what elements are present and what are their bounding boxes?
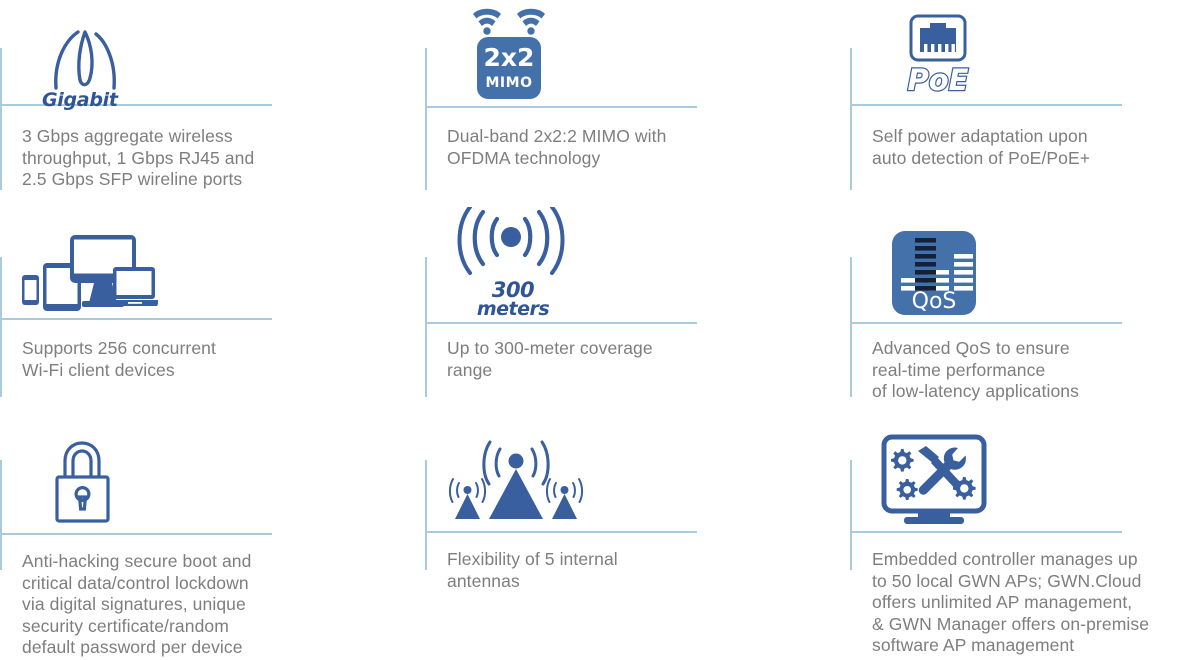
icon-zone bbox=[850, 415, 1200, 527]
icon-zone bbox=[0, 415, 400, 527]
feature-cell-dual-band-mimo: 2x2 MIMO Dual-band 2x2:2 MIMO with OFDMA… bbox=[425, 0, 825, 102]
gigabit-logo-icon: Gigabit bbox=[26, 20, 144, 100]
icon-zone: PoE bbox=[850, 0, 1200, 100]
antenna-towers-icon bbox=[443, 431, 591, 527]
divider-horizontal bbox=[0, 318, 272, 320]
feature-cell-secure-boot: Anti-hacking secure boot and critical da… bbox=[0, 415, 400, 527]
feature-description: Up to 300-meter coverage range bbox=[447, 338, 817, 381]
svg-text:2x2: 2x2 bbox=[484, 43, 535, 72]
monitor-tools-icon bbox=[878, 431, 990, 527]
feature-cell-advanced-qos: QoS Advanced QoS to ensure real-time per… bbox=[850, 205, 1200, 319]
feature-cell-coverage-range: 300 meters Up to 300-meter coverage rang… bbox=[425, 205, 825, 319]
icon-zone: QoS bbox=[850, 205, 1200, 319]
divider-horizontal bbox=[850, 322, 1122, 324]
feature-description: Flexibility of 5 internal antennas bbox=[447, 549, 817, 592]
icon-zone bbox=[0, 205, 400, 313]
svg-text:QoS: QoS bbox=[912, 289, 957, 314]
divider-horizontal bbox=[850, 104, 1122, 106]
feature-description: Advanced QoS to ensure real-time perform… bbox=[872, 338, 1200, 403]
feature-cell-concurrent-clients: Supports 256 concurrent Wi-Fi client dev… bbox=[0, 205, 400, 313]
feature-cell-internal-antennas: Flexibility of 5 internal antennas bbox=[425, 415, 825, 527]
icon-zone: 300 meters bbox=[425, 205, 825, 319]
feature-cell-gigabit-throughput: Gigabit 3 Gbps aggregate wireless throug… bbox=[0, 0, 400, 100]
feature-description: Dual-band 2x2:2 MIMO with OFDMA technolo… bbox=[447, 126, 817, 169]
divider-horizontal bbox=[425, 531, 697, 533]
multi-device-icon bbox=[18, 227, 158, 313]
divider-horizontal bbox=[0, 533, 272, 535]
signal-range-icon: 300 meters bbox=[457, 207, 577, 319]
icon-zone: Gigabit bbox=[0, 0, 400, 100]
feature-cell-poe-power: PoE Self power adaptation upon auto dete… bbox=[850, 0, 1200, 100]
feature-description: 3 Gbps aggregate wireless throughput, 1 … bbox=[22, 126, 392, 191]
range-unit-label: meters bbox=[457, 300, 569, 319]
qos-equalizer-icon: QoS bbox=[888, 227, 980, 319]
poe-rj45-icon: PoE bbox=[886, 8, 990, 100]
divider-horizontal bbox=[850, 531, 1122, 533]
svg-text:PoE: PoE bbox=[908, 63, 969, 97]
feature-cell-embedded-controller: Embedded controller manages up to 50 loc… bbox=[850, 415, 1200, 527]
mimo-badge-icon: 2x2 MIMO bbox=[467, 4, 553, 102]
padlock-icon bbox=[48, 435, 118, 527]
divider-horizontal bbox=[425, 322, 697, 324]
feature-description: Supports 256 concurrent Wi-Fi client dev… bbox=[22, 338, 392, 381]
feature-description: Self power adaptation upon auto detectio… bbox=[872, 126, 1200, 169]
icon-zone: 2x2 MIMO bbox=[425, 0, 825, 102]
range-label-group: 300 meters bbox=[457, 281, 569, 319]
feature-description: Anti-hacking secure boot and critical da… bbox=[22, 551, 402, 659]
feature-description: Embedded controller manages up to 50 loc… bbox=[872, 549, 1200, 657]
icon-zone bbox=[425, 415, 825, 527]
svg-text:MIMO: MIMO bbox=[486, 75, 533, 91]
divider-horizontal bbox=[425, 106, 697, 108]
feature-grid: Gigabit 3 Gbps aggregate wireless throug… bbox=[0, 0, 1200, 660]
